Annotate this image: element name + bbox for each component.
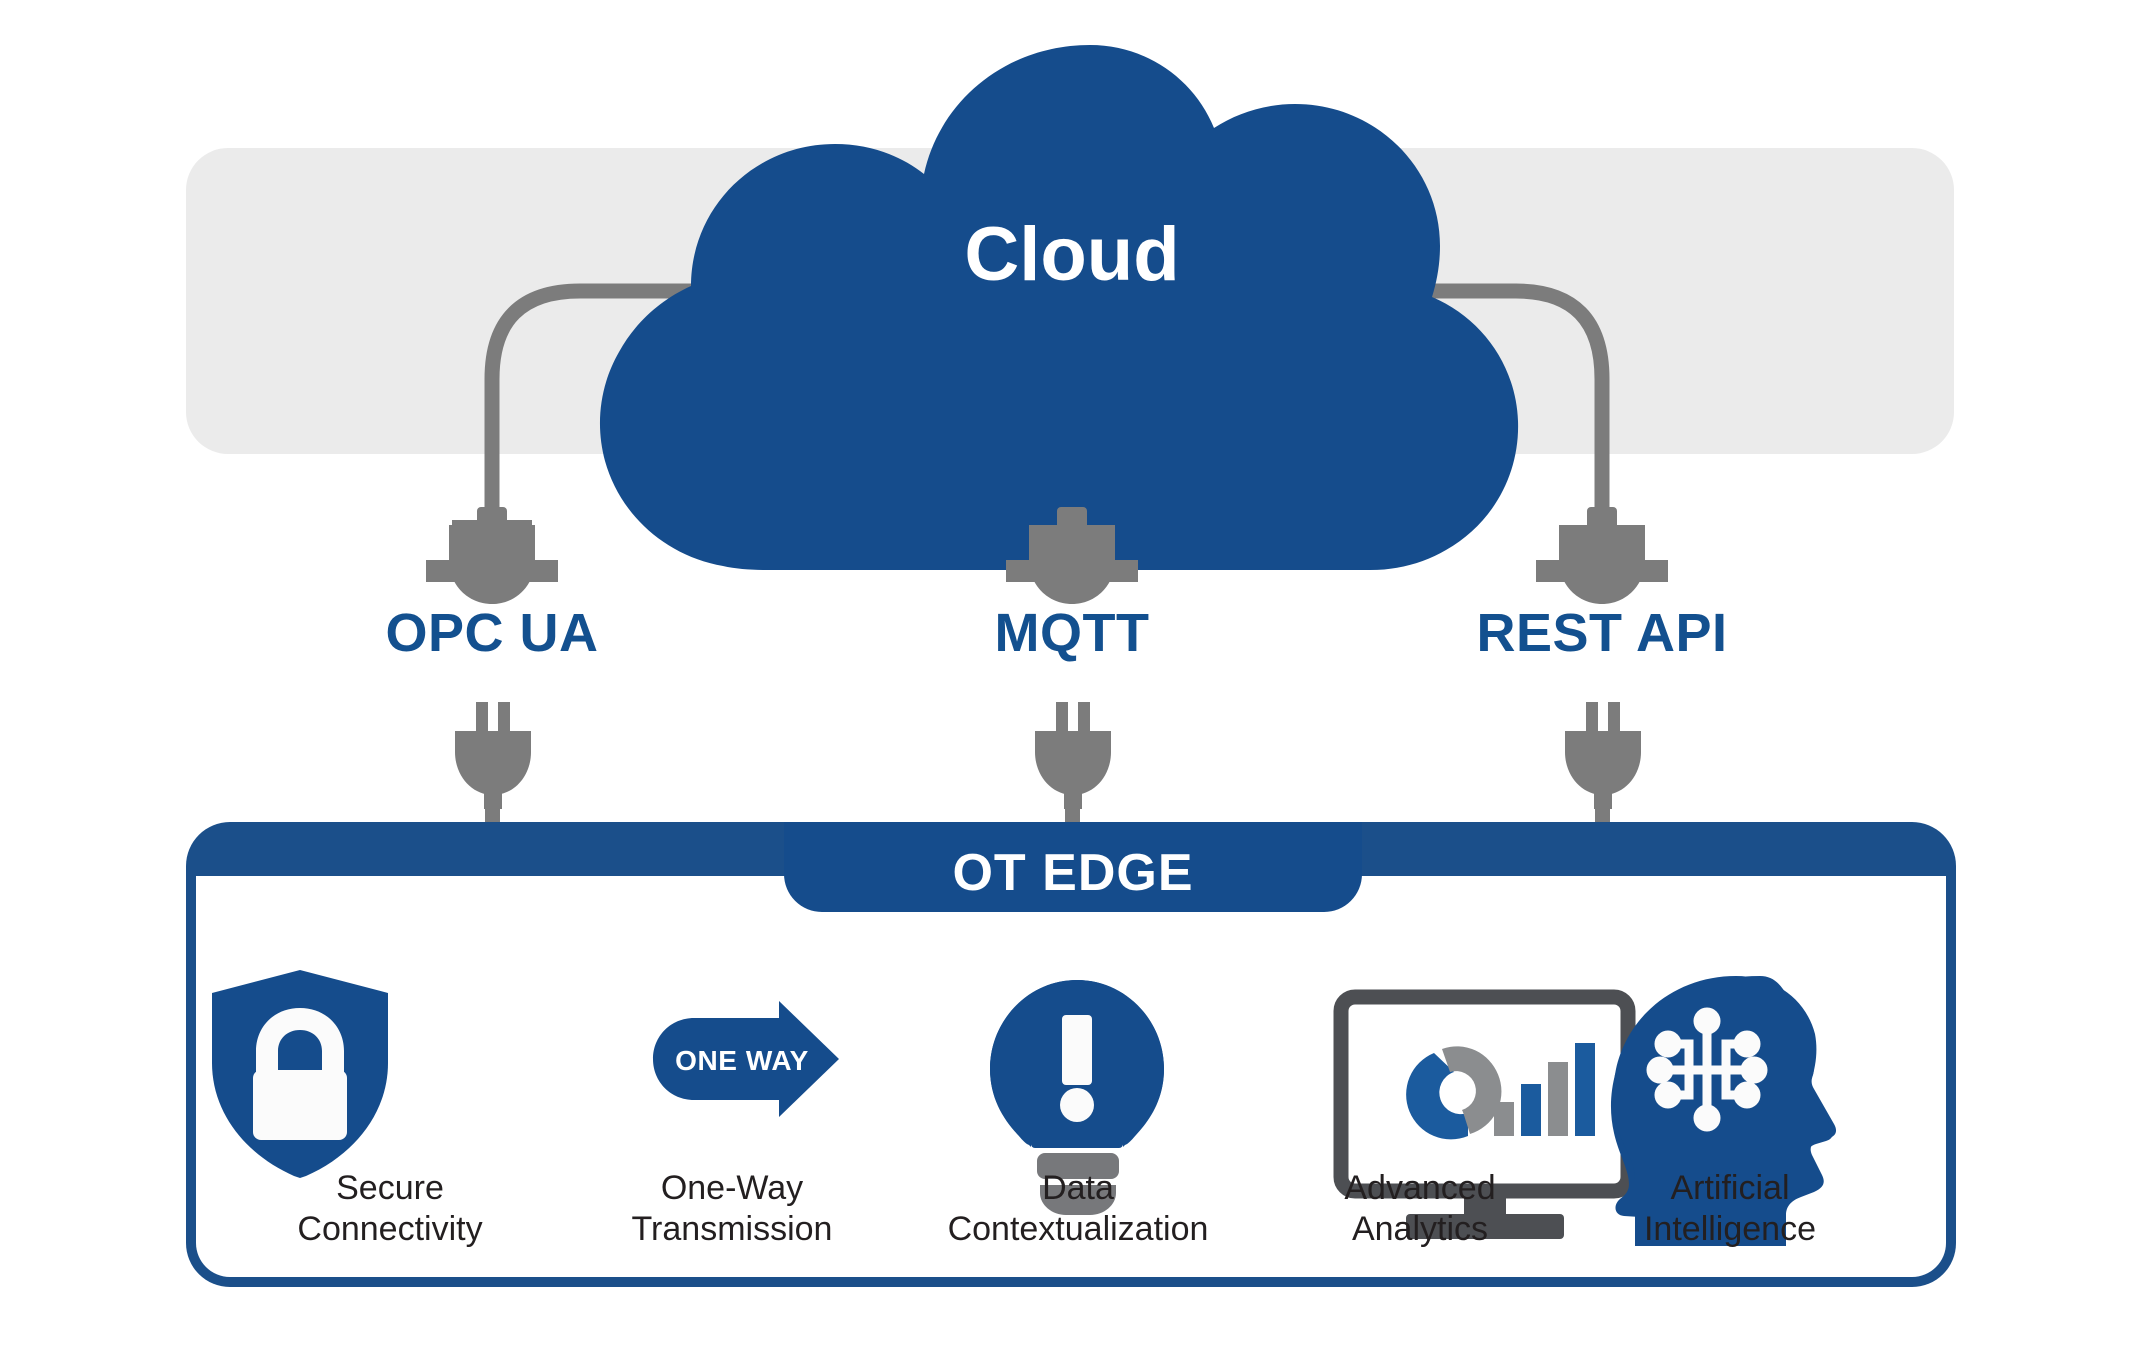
bar-4 (1575, 1043, 1595, 1136)
feature-caption-line-1: Secure (336, 1169, 444, 1207)
feature-caption-line-1: Advanced (1344, 1169, 1495, 1207)
one-way-arrow-label: ONE WAY (675, 1045, 809, 1076)
protocol-label-rest-api: REST API (1476, 603, 1727, 663)
bar-2 (1521, 1084, 1541, 1136)
ot-edge-cloud-diagram: Cloud (0, 0, 2142, 1355)
feature-caption-line-2: Analytics (1352, 1210, 1488, 1248)
feature-caption-line-1: One-Way (661, 1169, 803, 1207)
feature-caption-line-1: Data (1042, 1169, 1114, 1207)
protocol-label-opc-ua: OPC UA (385, 603, 598, 663)
bar-1 (1494, 1102, 1514, 1136)
cloud-node: Cloud (600, 45, 1518, 570)
bar-3 (1548, 1062, 1568, 1136)
feature-caption-line-2: Intelligence (1644, 1210, 1816, 1248)
ot-edge-banner-label: OT EDGE (952, 844, 1193, 902)
protocol-label-mqtt: MQTT (995, 603, 1150, 663)
feature-caption-line-2: Contextualization (948, 1210, 1209, 1248)
cloud-label: Cloud (964, 212, 1179, 297)
feature-caption-line-2: Transmission (632, 1210, 833, 1248)
feature-caption-line-2: Connectivity (297, 1210, 482, 1248)
feature-caption-line-1: Artificial (1670, 1169, 1789, 1207)
diagram-canvas: Cloud (0, 0, 2142, 1355)
socket-rest-api (1536, 507, 1668, 604)
cloud-shape (600, 45, 1518, 570)
socket-opc-ua (426, 507, 558, 604)
